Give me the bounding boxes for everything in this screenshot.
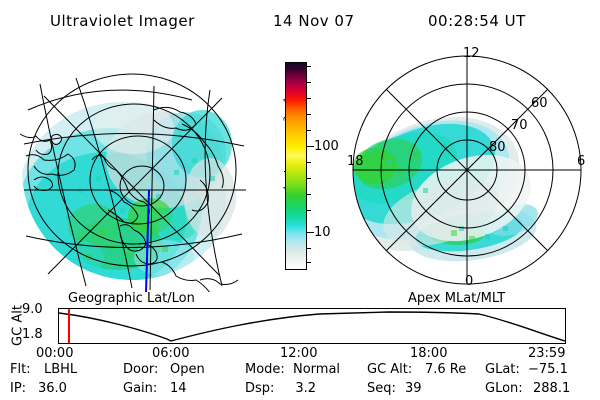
status-ip-key: IP:: [10, 381, 26, 396]
mlt-label-6: 6: [577, 154, 585, 169]
orbit-altitude-strip[interactable]: GC Alt 9.0 1.8 00:00 06:00 12:00 18:00 2…: [0, 300, 600, 356]
mlt-label-12: 12: [463, 46, 480, 61]
status-mode-key: Mode:: [245, 362, 285, 377]
status-glat-value: −75.1: [528, 362, 568, 377]
colorbar[interactable]: photon cm⁻²s⁻¹ 100 10: [258, 62, 344, 282]
status-glon-value: 288.1: [533, 381, 570, 396]
status-seq-value: 39: [405, 381, 422, 396]
status-gain-value: 14: [170, 381, 187, 396]
status-ip-value: 36.0: [38, 381, 67, 396]
status-flt-key: Flt:: [10, 362, 31, 377]
geographic-image-panel[interactable]: [14, 48, 254, 292]
status-mode-value: Normal: [293, 362, 340, 377]
status-footer: Flt: LBHL Door: Open Mode: Normal GC Alt…: [0, 362, 600, 400]
colorbar-minor-tick: [306, 66, 311, 67]
orbit-ytick-high: 9.0: [22, 302, 43, 317]
colorbar-major-tick-10: [306, 232, 314, 233]
orbit-xtick-2359: 23:59: [528, 346, 565, 361]
status-gcalt-key: GC Alt:: [367, 362, 412, 377]
orbit-xtick-0600: 06:00: [152, 346, 189, 361]
colorbar-minor-tick: [306, 130, 311, 131]
status-gain-key: Gain:: [123, 381, 157, 396]
orbit-plot-box: [58, 308, 566, 344]
observation-time: 00:28:54 UT: [428, 14, 526, 29]
status-glat-key: GLat:: [485, 362, 520, 377]
status-gcalt-value: 7.6 Re: [425, 362, 466, 377]
mlat-label-60: 60: [531, 96, 548, 111]
colorbar-minor-tick: [306, 210, 311, 211]
colorbar-tick-label-10: 10: [314, 225, 331, 240]
mlt-label-0: 0: [465, 274, 473, 289]
status-seq-key: Seq:: [367, 381, 396, 396]
status-door-value: Open: [170, 362, 205, 377]
geographic-plot: [14, 48, 254, 292]
colorbar-tick-label-100: 100: [314, 139, 339, 154]
orbit-altitude-curve: [59, 309, 565, 343]
orbit-xtick-0000: 00:00: [36, 346, 73, 361]
status-dsp-value: 3.2: [283, 381, 316, 396]
orbit-xtick-1200: 12:00: [280, 346, 317, 361]
orbit-xtick-1800: 18:00: [410, 346, 447, 361]
colorbar-major-tick-100: [306, 146, 314, 147]
colorbar-minor-tick: [306, 194, 311, 195]
mlat-label-70: 70: [511, 118, 528, 133]
colorbar-minor-tick: [306, 114, 311, 115]
orbit-ytick-low: 1.8: [22, 327, 43, 342]
status-glon-key: GLon:: [485, 381, 523, 396]
status-door-key: Door:: [123, 362, 158, 377]
colorbar-minor-tick: [306, 262, 311, 263]
colorbar-minor-tick: [306, 248, 311, 249]
current-time-marker: [68, 309, 70, 343]
status-flt-value: LBHL: [44, 362, 77, 377]
auroral-emission-data: [18, 60, 242, 292]
mlat-mlt-grid: [353, 56, 581, 284]
mlat-label-80: 80: [489, 140, 506, 155]
header-bar: Ultraviolet Imager 14 Nov 07 00:28:54 UT: [0, 6, 600, 30]
colorbar-minor-tick: [306, 82, 311, 83]
colorbar-gradient: [285, 62, 307, 270]
colorbar-minor-tick: [306, 162, 311, 163]
mlt-polar-plot: [345, 48, 589, 292]
colorbar-minor-tick: [306, 98, 311, 99]
mlt-polar-panel[interactable]: 12 6 0 18 60 70 80: [345, 48, 589, 292]
observation-date: 14 Nov 07: [273, 14, 355, 29]
mlt-label-18: 18: [347, 154, 364, 169]
colorbar-minor-tick: [306, 178, 311, 179]
instrument-title: Ultraviolet Imager: [50, 14, 195, 29]
status-dsp-key: Dsp:: [245, 381, 274, 396]
